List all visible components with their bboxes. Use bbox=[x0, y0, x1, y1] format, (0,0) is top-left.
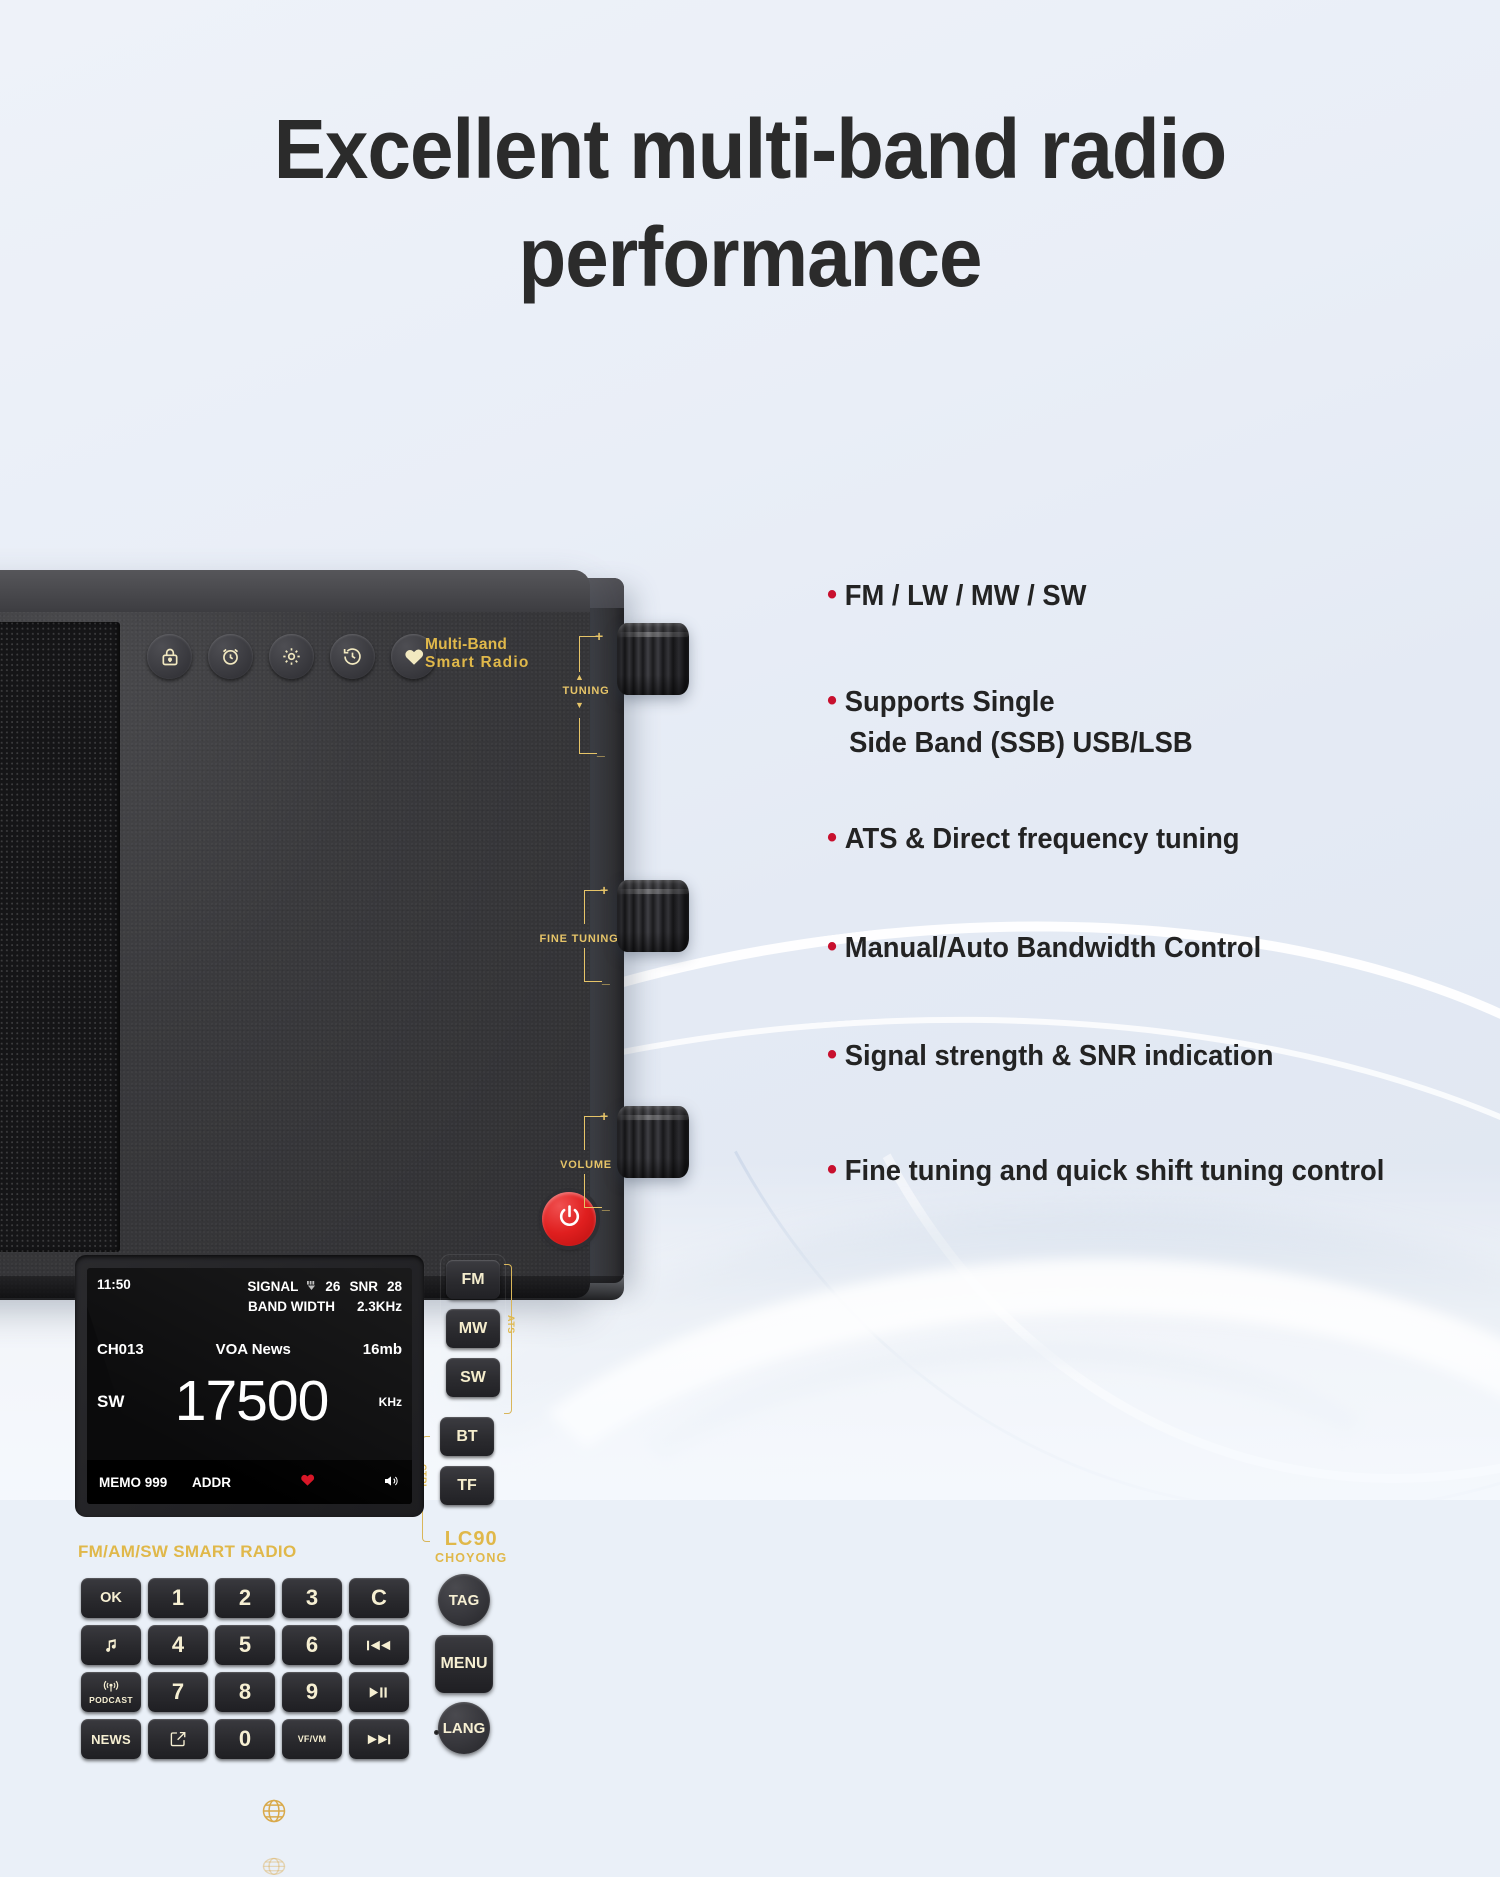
tuning-knob[interactable] bbox=[617, 623, 689, 695]
bullet-dot-icon: • bbox=[827, 576, 837, 614]
lcd-snr-value: 28 bbox=[387, 1277, 402, 1297]
lcd-bezel: 11:50 SIGNAL 26 SNR 28 BAND WIDTH 2.3KHz bbox=[75, 1255, 424, 1517]
bullet-dot-icon: • bbox=[827, 1151, 837, 1189]
band-button-sw[interactable]: SW bbox=[446, 1358, 500, 1397]
lcd-signal-value: 26 bbox=[325, 1277, 340, 1297]
gear-icon bbox=[281, 646, 302, 667]
bullet-dot-icon: • bbox=[827, 819, 837, 857]
podcast-icon bbox=[102, 1680, 120, 1694]
history-button[interactable] bbox=[330, 634, 375, 679]
heart-icon bbox=[403, 646, 425, 668]
feature-text-5: Manual/Auto Bandwidth Control bbox=[845, 928, 1261, 968]
lcd-signal-row: SIGNAL 26 SNR 28 bbox=[247, 1277, 402, 1297]
band-button-fm[interactable]: FM bbox=[446, 1260, 500, 1299]
previous-track-icon bbox=[367, 1638, 391, 1653]
key-1[interactable]: 1 bbox=[148, 1578, 208, 1618]
alarm-clock-icon bbox=[220, 646, 241, 667]
key-ok[interactable]: OK bbox=[81, 1578, 141, 1618]
volume-plus-label: + bbox=[600, 1108, 608, 1124]
tuning-down-arrow-icon: ▼ bbox=[575, 700, 584, 710]
key-4[interactable]: 4 bbox=[148, 1625, 208, 1665]
lcd-snr-label: SNR bbox=[349, 1277, 378, 1297]
lcd-station: VOA News bbox=[216, 1341, 291, 1358]
feature-text-4: ATS & Direct frequency tuning bbox=[845, 819, 1240, 859]
volume-minus-label: _ bbox=[602, 1196, 610, 1212]
lock-icon bbox=[160, 647, 180, 667]
alarm-button[interactable] bbox=[208, 634, 253, 679]
key-vf-vm[interactable]: VF/VM bbox=[282, 1719, 342, 1759]
lcd-addr: ADDR bbox=[192, 1475, 299, 1490]
volume-bracket-bottom bbox=[584, 1174, 602, 1208]
volume-label: VOLUME bbox=[546, 1159, 626, 1171]
lang-button[interactable]: LANG bbox=[438, 1702, 490, 1754]
next-track-icon bbox=[367, 1732, 391, 1747]
lcd-channel: CH013 bbox=[97, 1341, 144, 1358]
key-next-track[interactable] bbox=[349, 1719, 409, 1759]
music-note-icon bbox=[103, 1636, 120, 1655]
tuning-minus-label: _ bbox=[597, 742, 605, 758]
ctrl-button-bt[interactable]: BT bbox=[440, 1417, 494, 1456]
top-button-row bbox=[147, 634, 436, 679]
device-top-bevel bbox=[0, 570, 590, 612]
lcd-band: SW bbox=[97, 1392, 124, 1412]
page-title: Excellent multi-band radio performance bbox=[53, 96, 1448, 311]
headline-line-2: performance bbox=[53, 204, 1448, 312]
model-name: LC90 bbox=[435, 1528, 507, 1551]
fine-tuning-label: FINE TUNING bbox=[524, 933, 634, 945]
key-7[interactable]: 7 bbox=[148, 1672, 208, 1712]
key-3[interactable]: 3 bbox=[282, 1578, 342, 1618]
band-button-mw[interactable]: MW bbox=[446, 1309, 500, 1348]
feature-item-6: • Fine tuning and quick shift tuning con… bbox=[827, 1151, 1499, 1191]
lcd-signal-label: SIGNAL bbox=[247, 1277, 298, 1297]
band-control-column: FM MW SW BT TF bbox=[440, 1254, 506, 1515]
brand-line-2: Smart Radio bbox=[425, 654, 530, 672]
lcd-channel-row: CH013 VOA News 16mb bbox=[97, 1341, 402, 1358]
power-icon bbox=[556, 1203, 583, 1235]
edit-square-icon bbox=[169, 1730, 187, 1748]
brand-label: Multi-Band Smart Radio bbox=[425, 636, 530, 673]
ctrl-button-tf[interactable]: TF bbox=[440, 1466, 494, 1505]
feature-item-5: • Signal strength & SNR indication bbox=[827, 1036, 1499, 1076]
ats-label: ATS bbox=[506, 1315, 516, 1334]
lcd-bandwidth-label: BAND WIDTH bbox=[248, 1297, 335, 1317]
speaker-grille bbox=[0, 622, 120, 1252]
podcast-label: PODCAST bbox=[89, 1696, 133, 1705]
lcd-frequency: 17500 bbox=[175, 1373, 329, 1430]
globe-icon bbox=[260, 1797, 288, 1830]
radio-device: Multi-Band Smart Radio 11:50 SIGNAL 26 bbox=[0, 570, 698, 1300]
lcd-bandwidth-row: BAND WIDTH 2.3KHz bbox=[247, 1297, 402, 1317]
menu-button[interactable]: MENU bbox=[435, 1635, 493, 1693]
feature-text-3: Side Band (SSB) USB/LSB bbox=[849, 723, 1193, 763]
lcd-display: 11:50 SIGNAL 26 SNR 28 BAND WIDTH 2.3KHz bbox=[87, 1268, 412, 1504]
settings-button[interactable] bbox=[269, 634, 314, 679]
signal-bars-icon bbox=[307, 1277, 316, 1297]
maker-name: CHOYONG bbox=[435, 1551, 507, 1565]
feature-text-7: Fine tuning and quick shift tuning contr… bbox=[845, 1151, 1385, 1191]
lock-button[interactable] bbox=[147, 634, 192, 679]
fine-tuning-plus-label: + bbox=[600, 882, 608, 898]
key-8[interactable]: 8 bbox=[215, 1672, 275, 1712]
feature-text-2: Supports Single bbox=[845, 682, 1055, 722]
feature-text-1: FM / LW / MW / SW bbox=[845, 576, 1087, 616]
lcd-bandwidth-value: 2.3KHz bbox=[357, 1297, 402, 1317]
bullet-dot-icon: • bbox=[827, 1036, 837, 1074]
feature-item-3: • ATS & Direct frequency tuning bbox=[827, 819, 1499, 859]
key-news[interactable]: NEWS bbox=[81, 1719, 141, 1759]
lcd-speaker-icon bbox=[382, 1473, 400, 1492]
right-control-column: TAG MENU LANG bbox=[438, 1574, 493, 1763]
ats-band-group: FM MW SW bbox=[440, 1254, 506, 1403]
feature-item-2-cont: Side Band (SSB) USB/LSB bbox=[827, 723, 1499, 763]
volume-knob[interactable] bbox=[617, 1106, 689, 1178]
feature-item-2: • Supports Single bbox=[827, 682, 1499, 722]
key-c[interactable]: C bbox=[349, 1578, 409, 1618]
bullet-dot-icon: • bbox=[827, 682, 837, 720]
lcd-meterband: 16mb bbox=[363, 1341, 402, 1358]
lcd-unit: KHz bbox=[379, 1395, 402, 1409]
key-6[interactable]: 6 bbox=[282, 1625, 342, 1665]
lcd-status-row: 11:50 SIGNAL 26 SNR 28 BAND WIDTH 2.3KHz bbox=[97, 1277, 402, 1318]
key-9[interactable]: 9 bbox=[282, 1672, 342, 1712]
key-play-pause[interactable] bbox=[349, 1672, 409, 1712]
lcd-bottom-bar: MEMO 999 ADDR bbox=[87, 1460, 412, 1504]
keypad: OK 1 2 3 C 4 5 6 bbox=[81, 1578, 415, 1762]
tuning-label: TUNING bbox=[546, 685, 626, 697]
tuning-plus-label: + bbox=[595, 628, 603, 644]
key-5[interactable]: 5 bbox=[215, 1625, 275, 1665]
bullet-dot-icon: • bbox=[827, 928, 837, 966]
key-edit[interactable] bbox=[148, 1719, 208, 1759]
lcd-heart-icon bbox=[299, 1472, 382, 1493]
play-pause-icon bbox=[368, 1685, 390, 1700]
lcd-signal-block: SIGNAL 26 SNR 28 BAND WIDTH 2.3KHz bbox=[247, 1277, 402, 1318]
feature-item-4: • Manual/Auto Bandwidth Control bbox=[827, 928, 1499, 968]
globe-reflection-icon bbox=[260, 1852, 288, 1877]
feature-item-1: • FM / LW / MW / SW bbox=[827, 576, 1499, 616]
tag-button[interactable]: TAG bbox=[438, 1574, 490, 1626]
brand-line-1: Multi-Band bbox=[425, 636, 530, 654]
key-music[interactable] bbox=[81, 1625, 141, 1665]
lcd-memo: MEMO 999 bbox=[99, 1475, 192, 1490]
feature-list: • FM / LW / MW / SW • Supports Single Si… bbox=[827, 576, 1500, 1191]
feature-text-6: Signal strength & SNR indication bbox=[845, 1036, 1274, 1076]
fine-tuning-minus-label: _ bbox=[602, 970, 610, 986]
key-2[interactable]: 2 bbox=[215, 1578, 275, 1618]
tuning-up-arrow-icon: ▲ bbox=[575, 672, 584, 682]
key-podcast[interactable]: PODCAST bbox=[81, 1672, 141, 1712]
lcd-clock: 11:50 bbox=[97, 1277, 131, 1292]
tuning-bracket-bottom bbox=[579, 718, 597, 754]
key-0[interactable]: 0 bbox=[215, 1719, 275, 1759]
indicator-led bbox=[434, 1730, 439, 1735]
fine-tuning-bracket-bottom bbox=[584, 948, 602, 982]
headline-line-1: Excellent multi-band radio bbox=[53, 96, 1448, 204]
model-branding: LC90 CHOYONG bbox=[435, 1528, 507, 1565]
lcd-frequency-row: SW 17500 KHz bbox=[97, 1373, 402, 1430]
keypad-section-label: FM/AM/SW SMART RADIO bbox=[78, 1542, 296, 1562]
clock-history-icon bbox=[342, 646, 363, 667]
key-previous-track[interactable] bbox=[349, 1625, 409, 1665]
